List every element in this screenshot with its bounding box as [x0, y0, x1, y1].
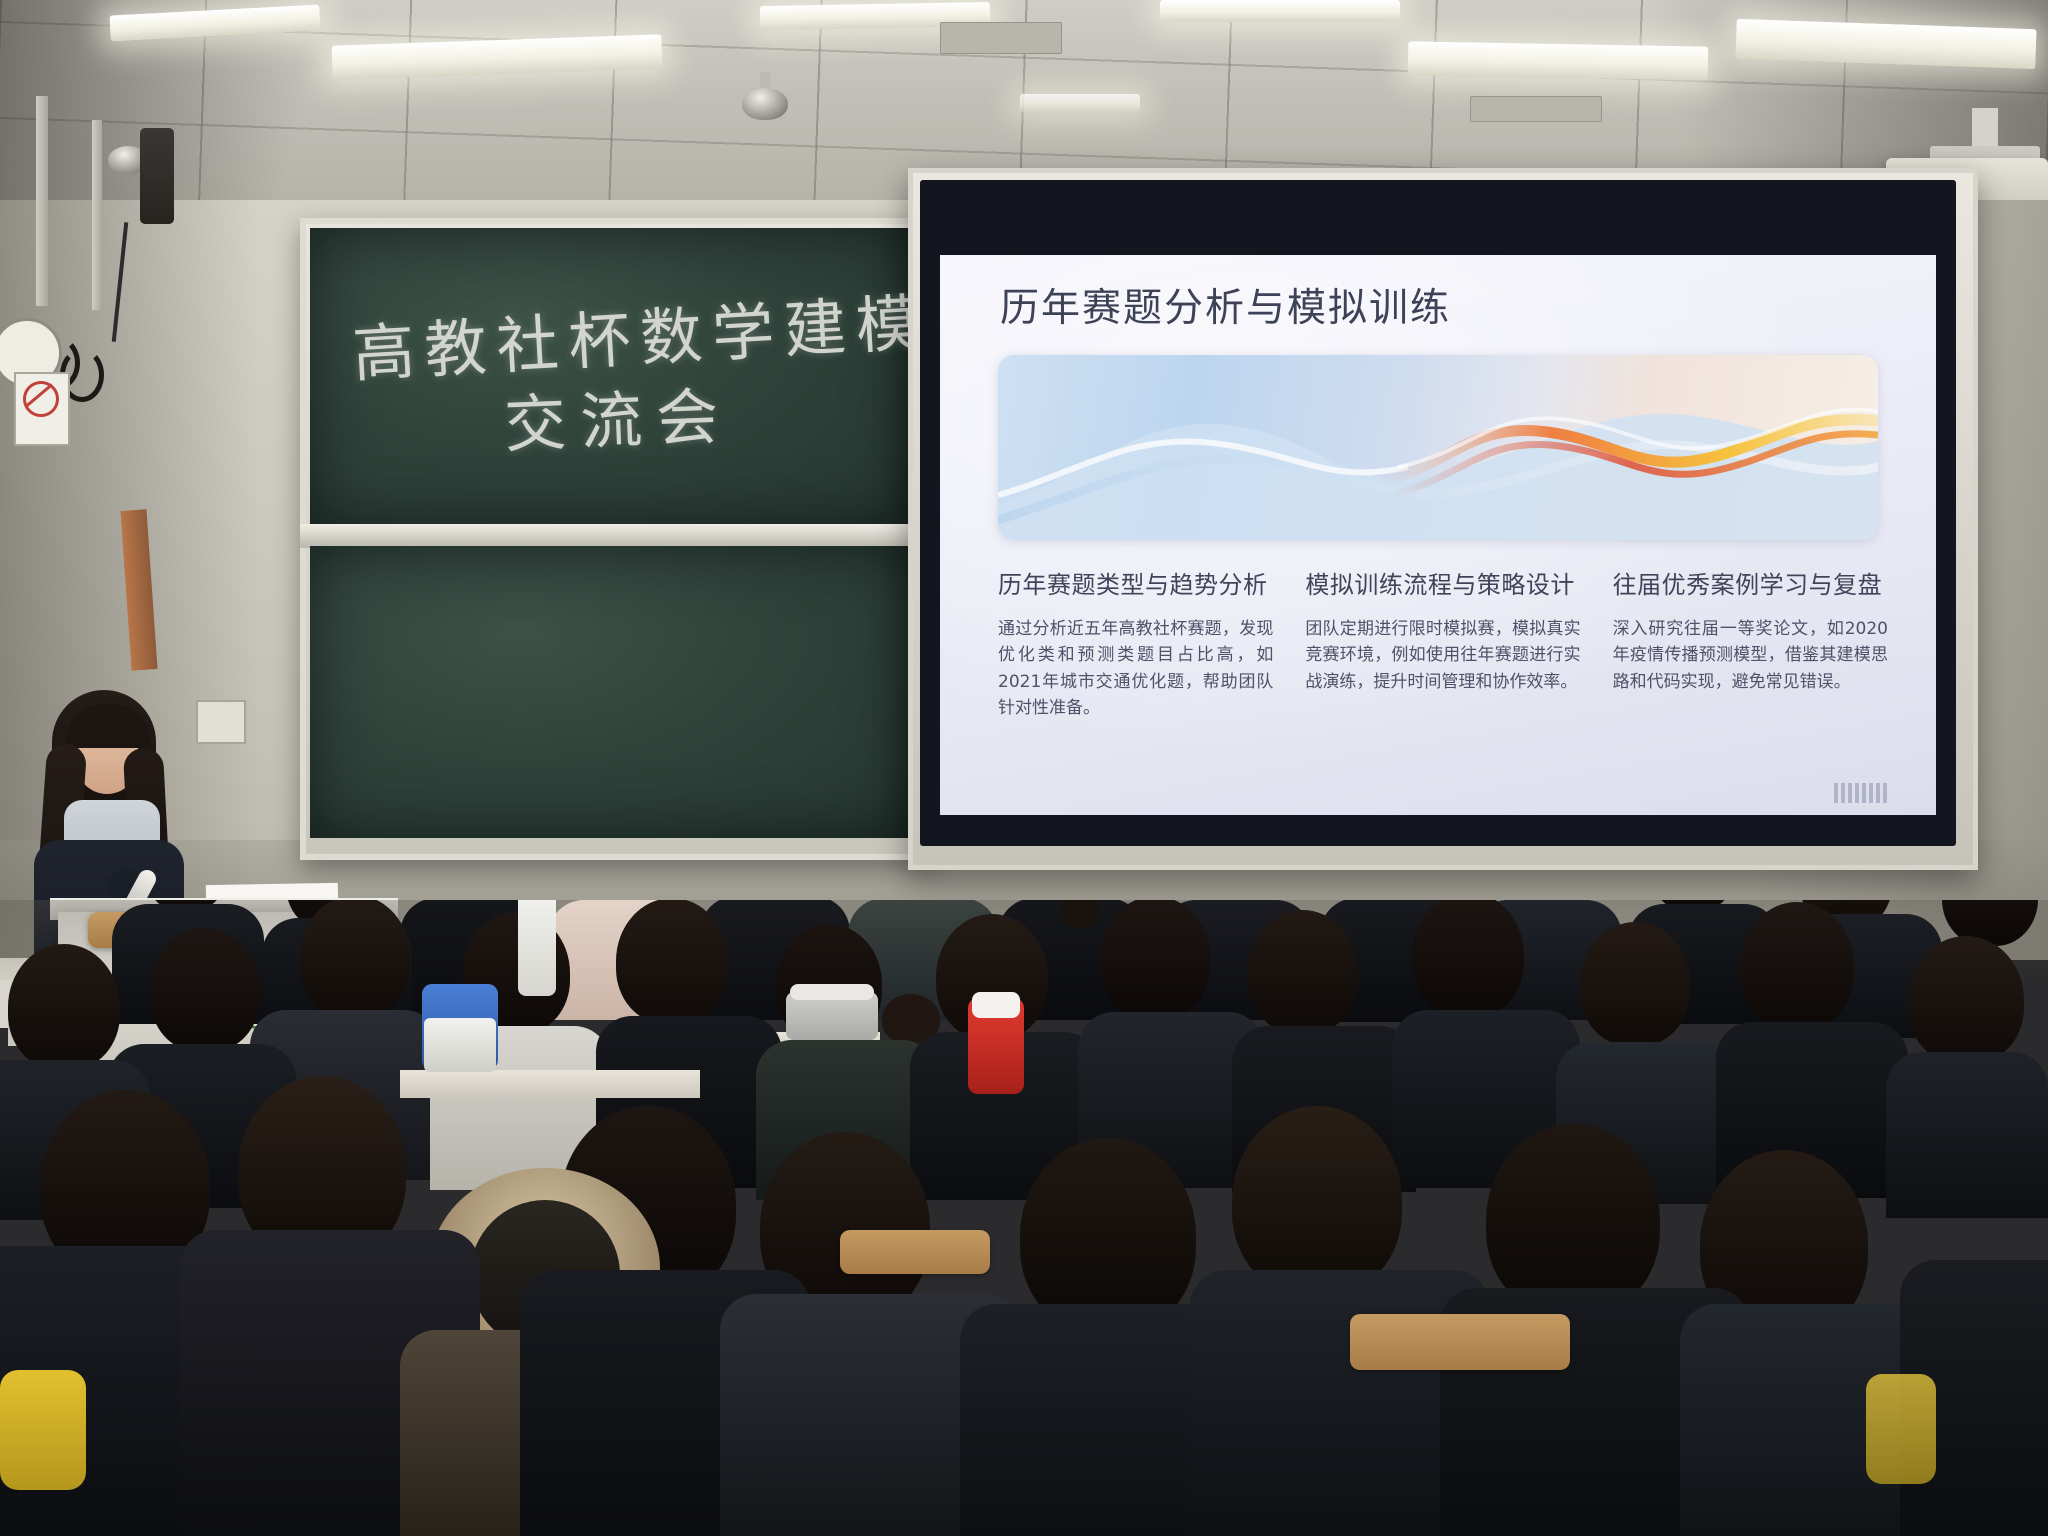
thermos-body	[424, 1018, 496, 1072]
audience-head	[8, 944, 120, 1070]
column-1-heading: 历年赛题类型与趋势分析	[998, 565, 1273, 600]
slide-column-3: 往届优秀案例学习与复盘 深入研究往届一等奖论文，如2020年疫情传播预测模型，借…	[1613, 565, 1888, 721]
prohibition-ring	[23, 381, 59, 417]
ceiling-light	[1408, 41, 1709, 80]
audience	[0, 900, 2048, 1536]
blackboard-chalk-rail	[300, 524, 920, 548]
dome-camera-icon	[742, 88, 788, 120]
slide-hero-image	[998, 355, 1878, 540]
slide-title: 历年赛题分析与模拟训练	[1000, 277, 1451, 333]
projected-slide: 历年赛题分析与模拟训练	[940, 255, 1936, 815]
lecture-hall-photo: EPSON 高教社杯数学建模 交流会 历年赛题分析与模拟训练	[0, 0, 2048, 1536]
ceiling-vent	[1470, 96, 1602, 122]
slide-column-2: 模拟训练流程与策略设计 团队定期进行限时模拟赛，模拟真实竞赛环境，例如使用往年赛…	[1305, 565, 1580, 721]
audience-head	[616, 900, 728, 1024]
chair-back	[840, 1230, 990, 1274]
slide-columns: 历年赛题类型与趋势分析 通过分析近五年高教社杯赛题，发现优化类和预测类题目占比高…	[998, 565, 1888, 721]
water-bottle	[518, 900, 556, 996]
audience-head	[1908, 936, 2024, 1064]
ceiling-light	[1020, 94, 1140, 112]
audience-hair-bun	[1060, 900, 1100, 928]
red-bottle-cap	[972, 992, 1020, 1018]
wall-pipe	[36, 96, 48, 306]
audience-head	[150, 928, 260, 1052]
abstract-wave-graphic	[998, 355, 1878, 540]
container-lid	[790, 984, 874, 1000]
wall-pipe	[92, 120, 102, 310]
yellow-jacket-accent	[1866, 1374, 1936, 1484]
blackboard-lower-panel	[310, 546, 910, 838]
audience-head	[1100, 900, 1210, 1020]
audience-head	[1740, 902, 1854, 1030]
ceiling-light	[1160, 0, 1400, 22]
audience-head	[1248, 910, 1358, 1034]
yellow-jacket-accent	[0, 1370, 86, 1490]
audience-head	[1580, 922, 1690, 1046]
wall-outlet-box	[196, 700, 246, 744]
slide-watermark	[1834, 783, 1890, 803]
wall-speaker	[140, 128, 174, 224]
chair-back	[1350, 1314, 1570, 1370]
slide-column-1: 历年赛题类型与趋势分析 通过分析近五年高教社杯赛题，发现优化类和预测类题目占比高…	[998, 565, 1273, 721]
no-smoking-sign-icon	[14, 372, 70, 446]
column-1-body: 通过分析近五年高教社杯赛题，发现优化类和预测类题目占比高，如2021年城市交通优…	[998, 616, 1273, 721]
audience-head	[1232, 1106, 1402, 1296]
column-2-body: 团队定期进行限时模拟赛，模拟真实竞赛环境，例如使用往年赛题进行实战演练，提升时间…	[1305, 616, 1580, 695]
column-3-heading: 往届优秀案例学习与复盘	[1613, 565, 1888, 600]
column-2-heading: 模拟训练流程与策略设计	[1305, 565, 1580, 600]
blackboard-text-line-2: 交流会	[502, 366, 733, 465]
desk-surface	[400, 1070, 700, 1098]
audience-head	[1412, 900, 1524, 1018]
column-3-body: 深入研究往届一等奖论文，如2020年疫情传播预测模型，借鉴其建模思路和代码实现，…	[1613, 616, 1888, 695]
audience-head	[300, 900, 410, 1019]
audience-body	[1886, 1052, 2048, 1218]
ceiling-vent	[940, 22, 1062, 54]
